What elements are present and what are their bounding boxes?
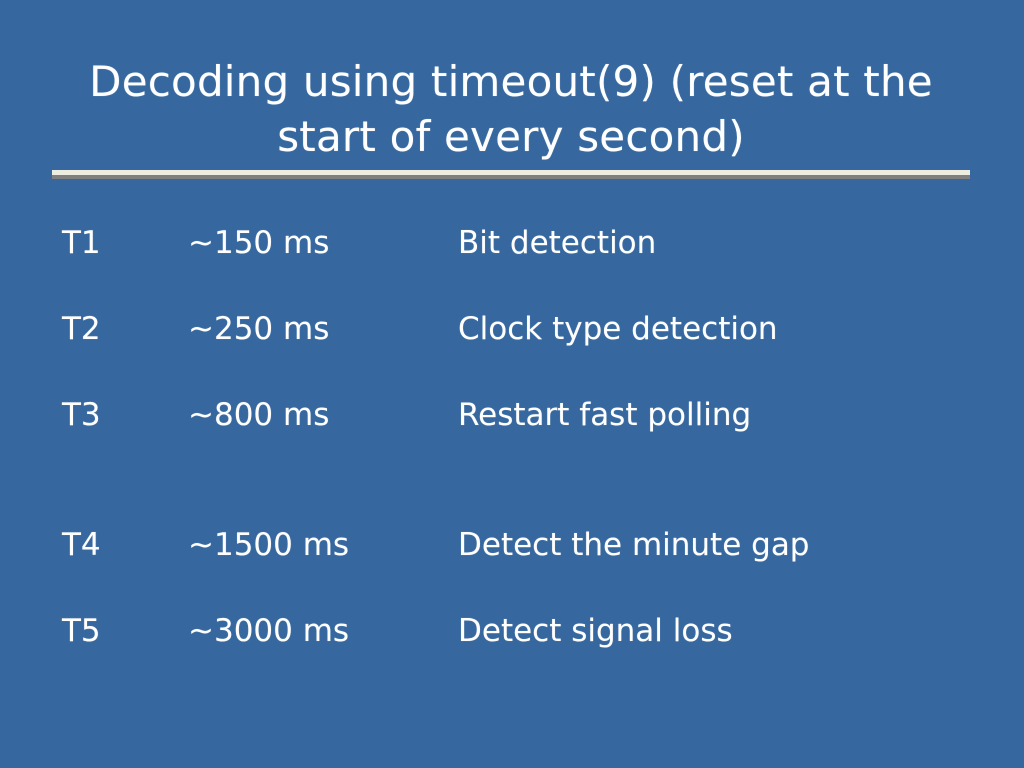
timer-timeout: ~800 ms (188, 394, 329, 436)
timer-purpose: Bit detection (458, 222, 656, 264)
table-row-spacer (62, 480, 962, 524)
timer-timeout: ~1500 ms (188, 524, 349, 566)
timer-id: T2 (62, 308, 101, 350)
timer-purpose: Detect signal loss (458, 610, 733, 652)
table-row: T5 ~3000 ms Detect signal loss (62, 610, 962, 696)
timeout-table: T1 ~150 ms Bit detection T2 ~250 ms Cloc… (62, 222, 962, 696)
table-row: T1 ~150 ms Bit detection (62, 222, 962, 308)
presentation-slide: Decoding using timeout(9) (reset at the … (0, 0, 1024, 768)
table-row: T4 ~1500 ms Detect the minute gap (62, 524, 962, 610)
timer-timeout: ~3000 ms (188, 610, 349, 652)
timer-id: T5 (62, 610, 101, 652)
divider-shadow (52, 175, 970, 179)
table-row: T3 ~800 ms Restart fast polling (62, 394, 962, 480)
table-row: T2 ~250 ms Clock type detection (62, 308, 962, 394)
slide-title-block: Decoding using timeout(9) (reset at the … (52, 54, 970, 164)
timer-purpose: Clock type detection (458, 308, 778, 350)
timer-id: T3 (62, 394, 101, 436)
title-divider-rule (52, 170, 970, 179)
page-title: Decoding using timeout(9) (reset at the … (52, 54, 970, 164)
timer-timeout: ~250 ms (188, 308, 329, 350)
timer-purpose: Detect the minute gap (458, 524, 810, 566)
timer-id: T4 (62, 524, 101, 566)
timer-purpose: Restart fast polling (458, 394, 751, 436)
timer-id: T1 (62, 222, 101, 264)
timer-timeout: ~150 ms (188, 222, 329, 264)
